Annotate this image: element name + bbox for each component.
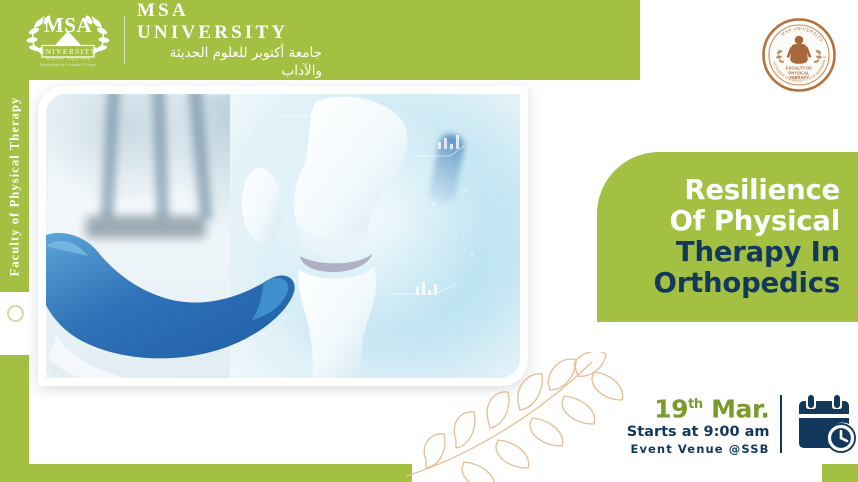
bottom-right-green-block [822,464,858,482]
bottom-left-green-bar [0,355,29,482]
title-line-4: Orthopedics [654,268,840,299]
title-line-1: Resilience [684,175,840,206]
event-poster: Faculty of Physical Therapy [0,0,858,482]
event-details: 19th Mar. Starts at 9:00 am Event Venue … [626,386,858,462]
msa-wreath-logo-icon: MSA UNIVERSITY IN EGYPT SINCE 1996 Estab… [22,9,114,71]
title-line-3: Therapy In [676,237,840,268]
logo-msa-text: MSA [22,13,114,38]
university-name-ar: جامعة أكتوبر للعلوم الحديثة والآداب [137,44,322,80]
faculty-of-physical-therapy-seal-icon: MSA UNIVERSITY OCTOBER UNIVERSITY FOR MO… [762,18,836,92]
gloved-hand-icon [46,208,302,378]
university-name-block: MSA UNIVERSITY جامعة أكتوبر للعلوم الحدي… [137,0,322,80]
event-month: Mar. [711,395,769,424]
calendar-clock-icon [794,392,858,456]
hero-photo [46,94,520,378]
title-line-2: Of Physical [670,206,840,237]
logo-since-text: IN EGYPT SINCE 1996 [22,57,114,61]
msa-logo-block: MSA UNIVERSITY IN EGYPT SINCE 1996 Estab… [22,8,322,72]
title-panel: Resilience Of Physical Therapy In Orthop… [597,152,858,322]
hero-photo-frame [38,86,528,386]
bottom-green-bar [0,464,412,482]
svg-text:THERAPY: THERAPY [789,75,809,80]
logo-divider [124,16,125,64]
event-venue: Event Venue @SSB [626,441,770,457]
event-day: 19 [654,395,688,424]
logo-founder-text: Established by Dr.Nawal El Degwi [22,63,114,67]
logo-ribbon-text: UNIVERSITY [30,46,106,57]
university-name-en: MSA UNIVERSITY [137,0,322,44]
faculty-label-text: Faculty of Physical Therapy [7,96,22,276]
event-date: 19th Mar. [626,391,770,422]
event-text-block: 19th Mar. Starts at 9:00 am Event Venue … [626,391,780,456]
faculty-vertical-label: Faculty of Physical Therapy [0,80,29,292]
circle-outline-decoration-icon [7,305,24,322]
event-time: Starts at 9:00 am [626,423,770,441]
event-day-suffix: th [688,397,703,412]
event-divider [780,395,783,453]
